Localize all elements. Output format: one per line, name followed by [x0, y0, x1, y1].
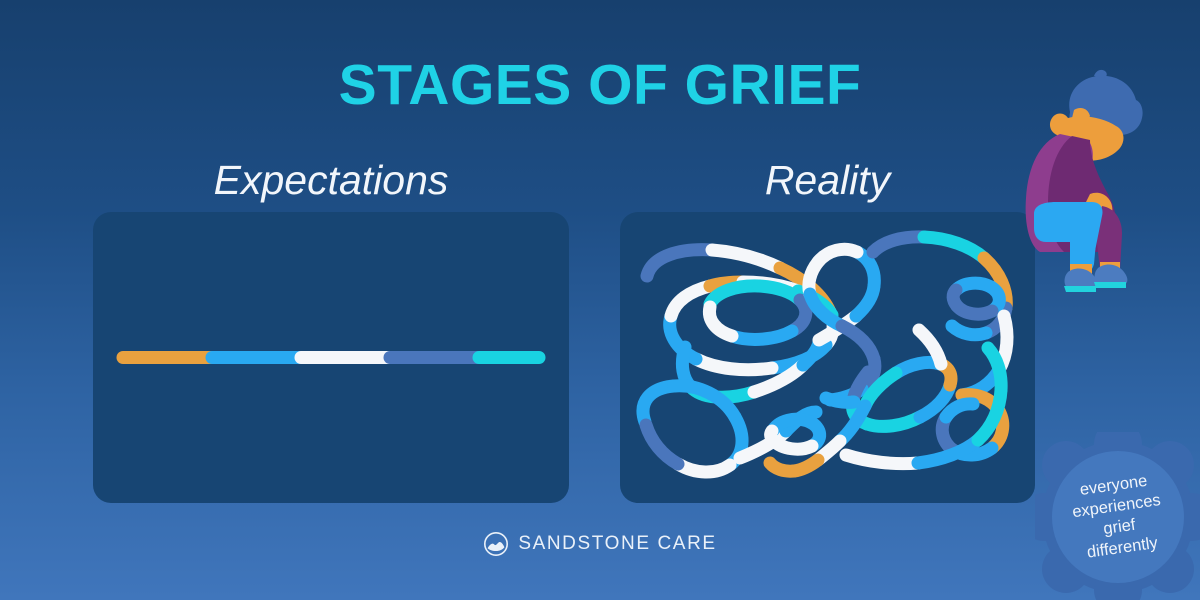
panel-reality — [620, 212, 1035, 503]
tangle-stroke — [953, 290, 957, 306]
tangle-stroke — [924, 237, 984, 258]
panel-expectations — [93, 212, 569, 503]
tangle-stroke — [946, 404, 973, 417]
tangle-stroke — [709, 307, 732, 336]
column-heading-expectations: Expectations — [93, 157, 569, 204]
tangle-stroke — [846, 455, 918, 464]
tangle-stroke — [643, 386, 674, 422]
tangle-stroke — [770, 463, 794, 471]
expectations-line-chart — [93, 212, 569, 503]
tangle-stroke — [710, 286, 759, 304]
tangle-stroke — [696, 359, 772, 370]
brand-name: SANDSTONE CARE — [518, 533, 716, 555]
sole-shape — [1064, 286, 1096, 292]
tangle-stroke — [867, 417, 920, 426]
tangle-stroke — [826, 398, 854, 402]
infographic-canvas: STAGES OF GRIEF Expectations Reality — [0, 0, 1200, 600]
tangle-stroke — [952, 326, 986, 335]
column-heading-reality: Reality — [620, 157, 1035, 204]
tangle-stroke — [732, 331, 792, 339]
sole-shape-2 — [1094, 282, 1126, 288]
badge-disc — [1052, 451, 1184, 583]
tangle-stroke — [842, 326, 874, 359]
tangle-stroke — [678, 464, 730, 472]
reality-tangled-line-chart — [620, 212, 1035, 503]
tangle-stroke — [646, 425, 678, 464]
badge-scallop-shape — [1035, 432, 1200, 600]
tangle-stroke — [873, 237, 924, 252]
tangle-stroke — [771, 431, 774, 441]
person-svg — [1016, 66, 1166, 296]
status-badge: everyone experiences grief differently — [1035, 432, 1200, 600]
mountain-circle-logo-icon — [483, 531, 509, 557]
tangle-stroke — [896, 362, 940, 373]
footer-brand: SANDSTONE CARE — [0, 531, 1200, 557]
tangle-stroke — [712, 250, 780, 268]
tangle-stroke — [647, 250, 712, 276]
seated-grieving-person-illustration — [1016, 66, 1166, 296]
